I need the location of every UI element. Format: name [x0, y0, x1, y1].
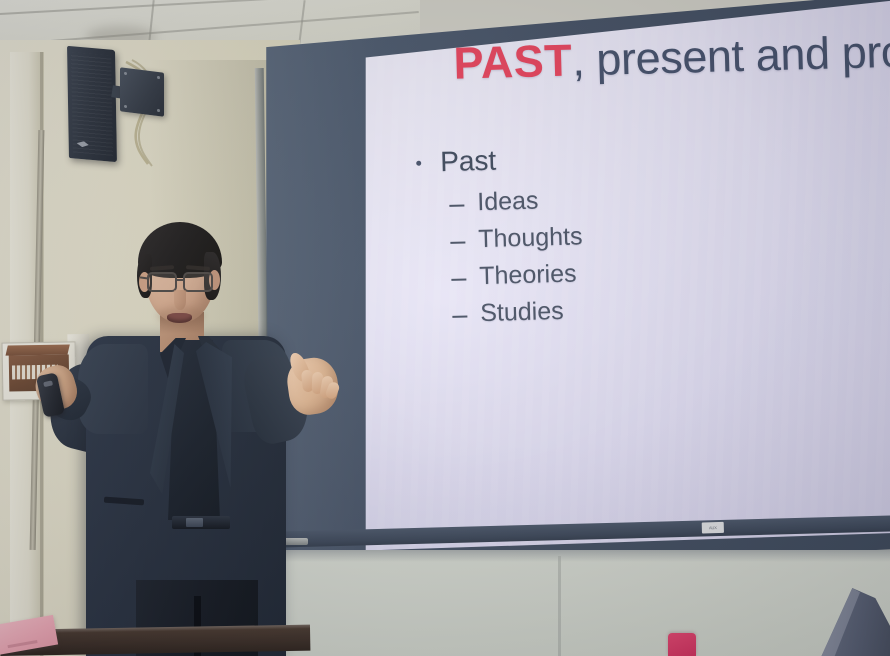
glasses-bridge — [177, 279, 185, 281]
card-marking — [8, 640, 38, 648]
presenter-mouth — [167, 313, 192, 323]
remote-button-icon — [43, 380, 53, 387]
glasses-lens-left — [147, 272, 177, 292]
presenter — [0, 0, 890, 656]
belt-buckle — [186, 518, 203, 527]
pink-object — [668, 633, 696, 656]
glasses-lens-right — [183, 272, 213, 292]
classroom-photo-scene: PAST, present and pros Past Ideas Though… — [0, 0, 890, 656]
presenter-nose — [174, 290, 186, 310]
